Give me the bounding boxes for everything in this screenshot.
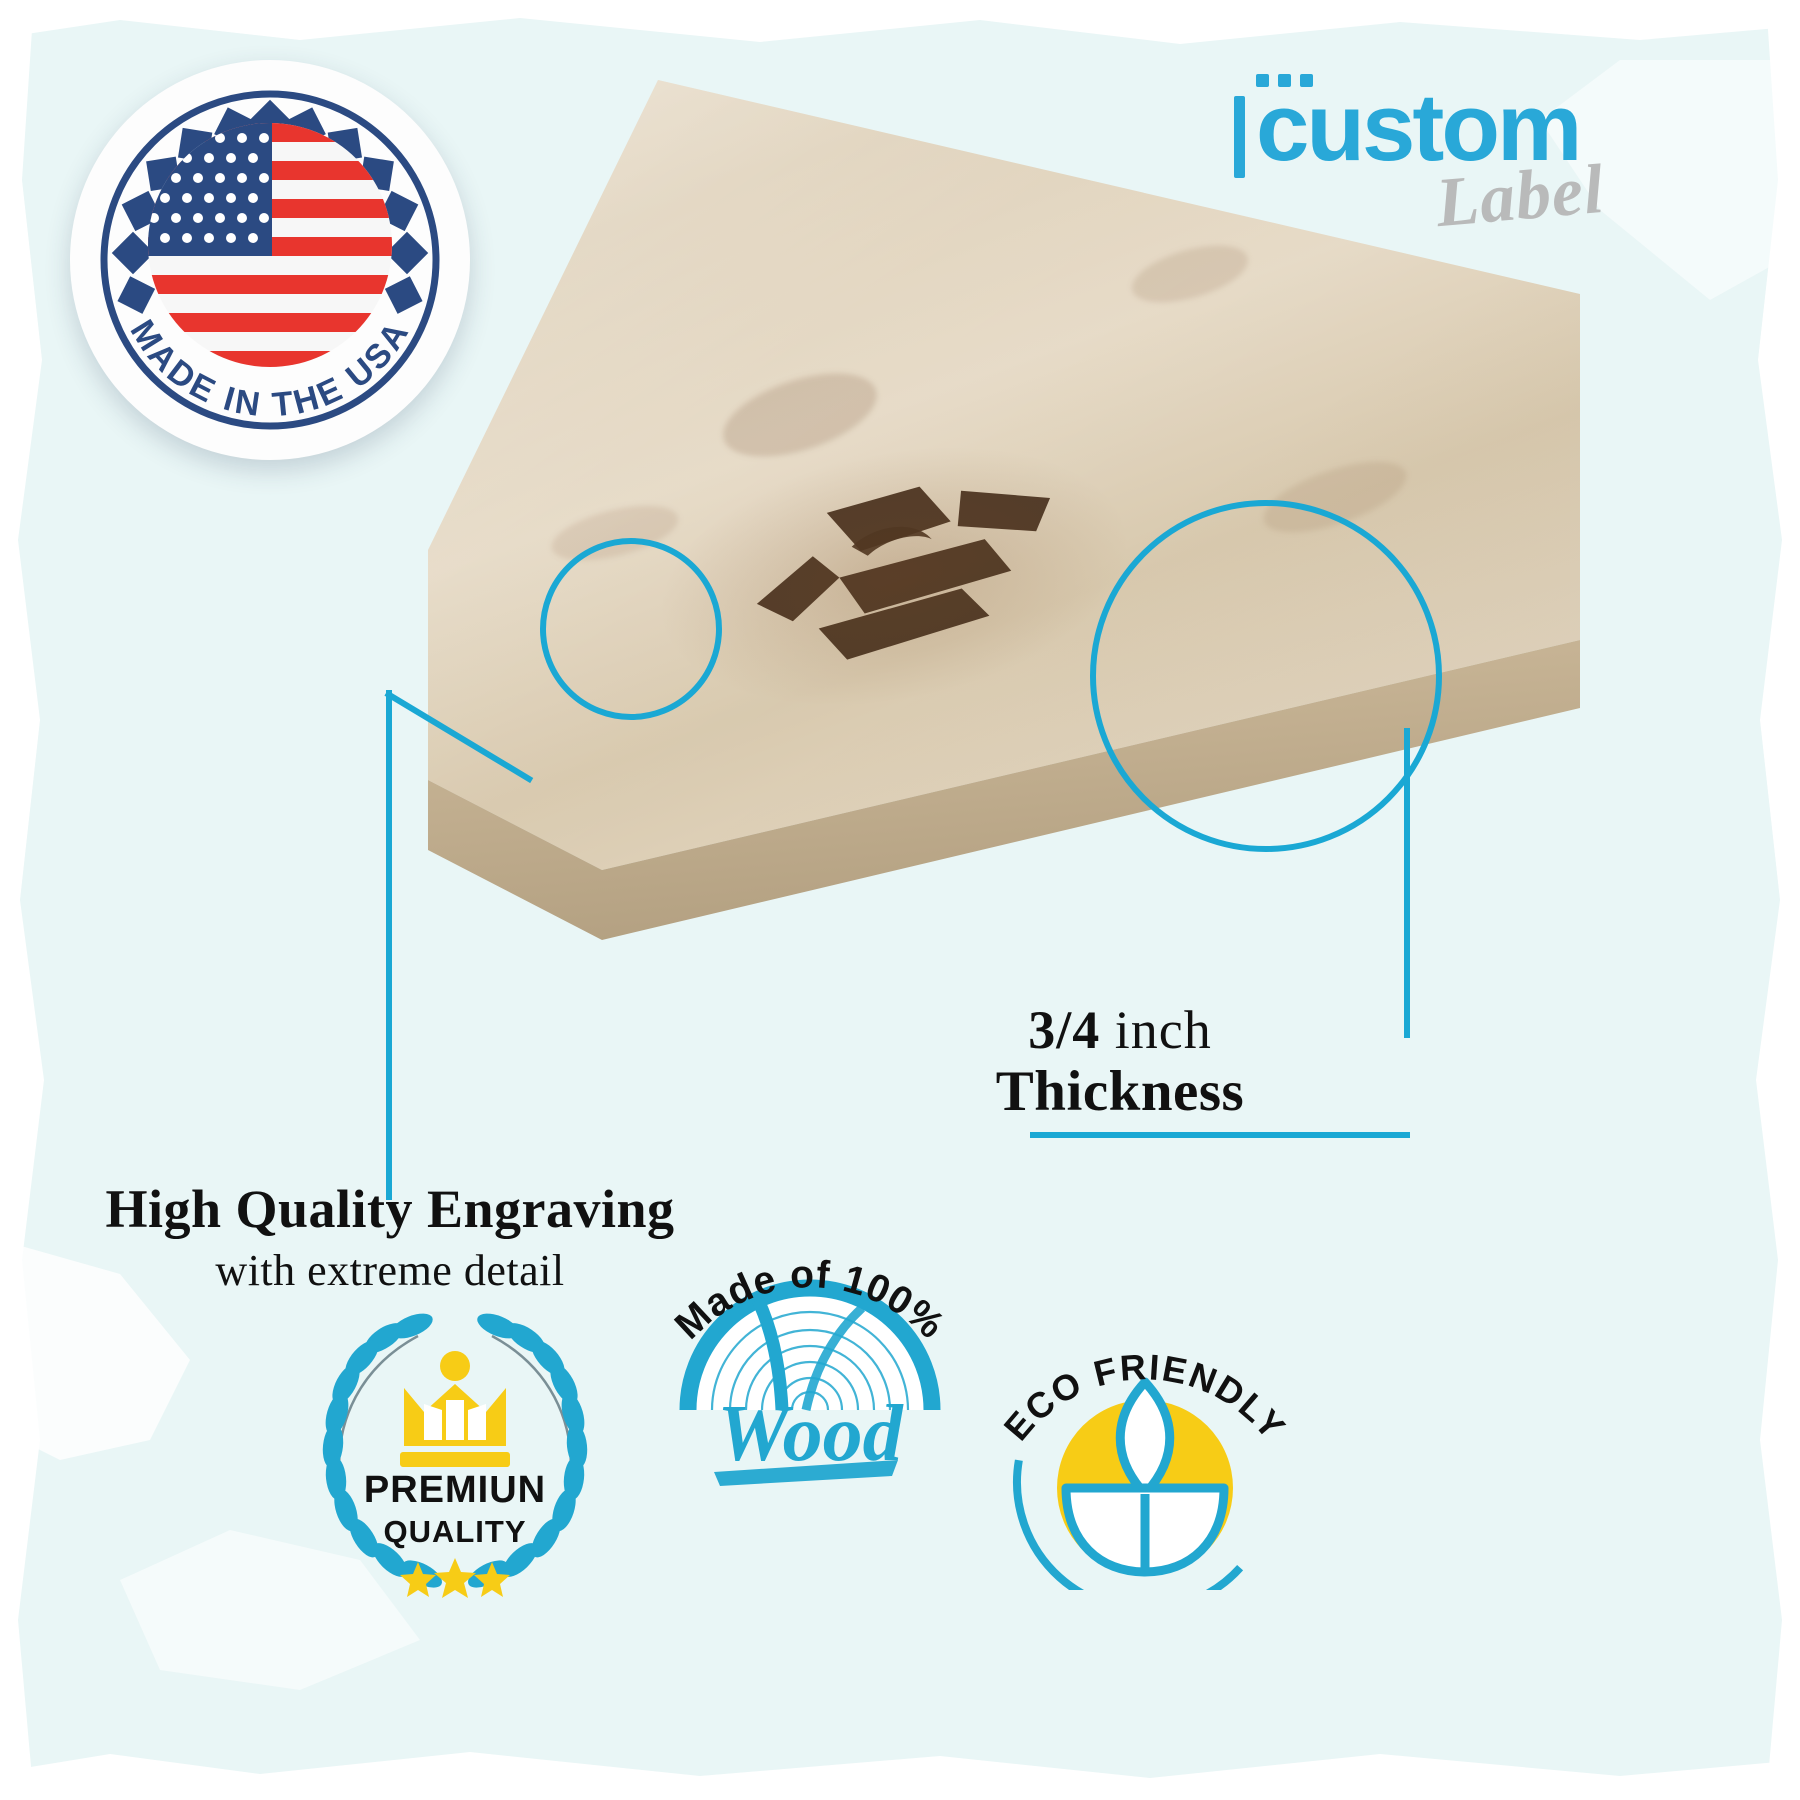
callout-circle-thickness (1090, 500, 1442, 852)
logo-bar-icon (1234, 96, 1245, 178)
premium-line2: QUALITY (383, 1514, 526, 1549)
product-feature-graphic: 3/4 inch Thickness High Quality Engravin… (0, 0, 1800, 1800)
premium-line1: PREMIUN (364, 1469, 546, 1511)
thickness-label: Thickness (860, 1060, 1380, 1124)
callout-line-thickness-vertical (1404, 728, 1410, 1038)
badge-premium-quality: PREMIUN QUALITY (300, 1270, 610, 1600)
thickness-callout-text: 3/4 inch Thickness (860, 1000, 1380, 1124)
thickness-unit: inch (1115, 1000, 1212, 1060)
callout-line-thickness-horizontal (1030, 1132, 1410, 1138)
brand-logo[interactable]: custom Label (1200, 70, 1680, 250)
engraving-title: High Quality Engraving (50, 1180, 730, 1239)
callout-line-engraving-vertical (386, 690, 392, 1200)
thickness-value: 3/4 (1028, 1000, 1100, 1060)
made-in-usa-badge: MADE IN THE USA (70, 60, 470, 460)
callout-circle-engraving (540, 538, 722, 720)
badge-made-of-wood: Made of 100% Wood (630, 1160, 990, 1490)
badge-eco-friendly: ECO FRIENDLY (980, 1250, 1310, 1590)
logo-secondary-text: Label (1433, 155, 1607, 239)
